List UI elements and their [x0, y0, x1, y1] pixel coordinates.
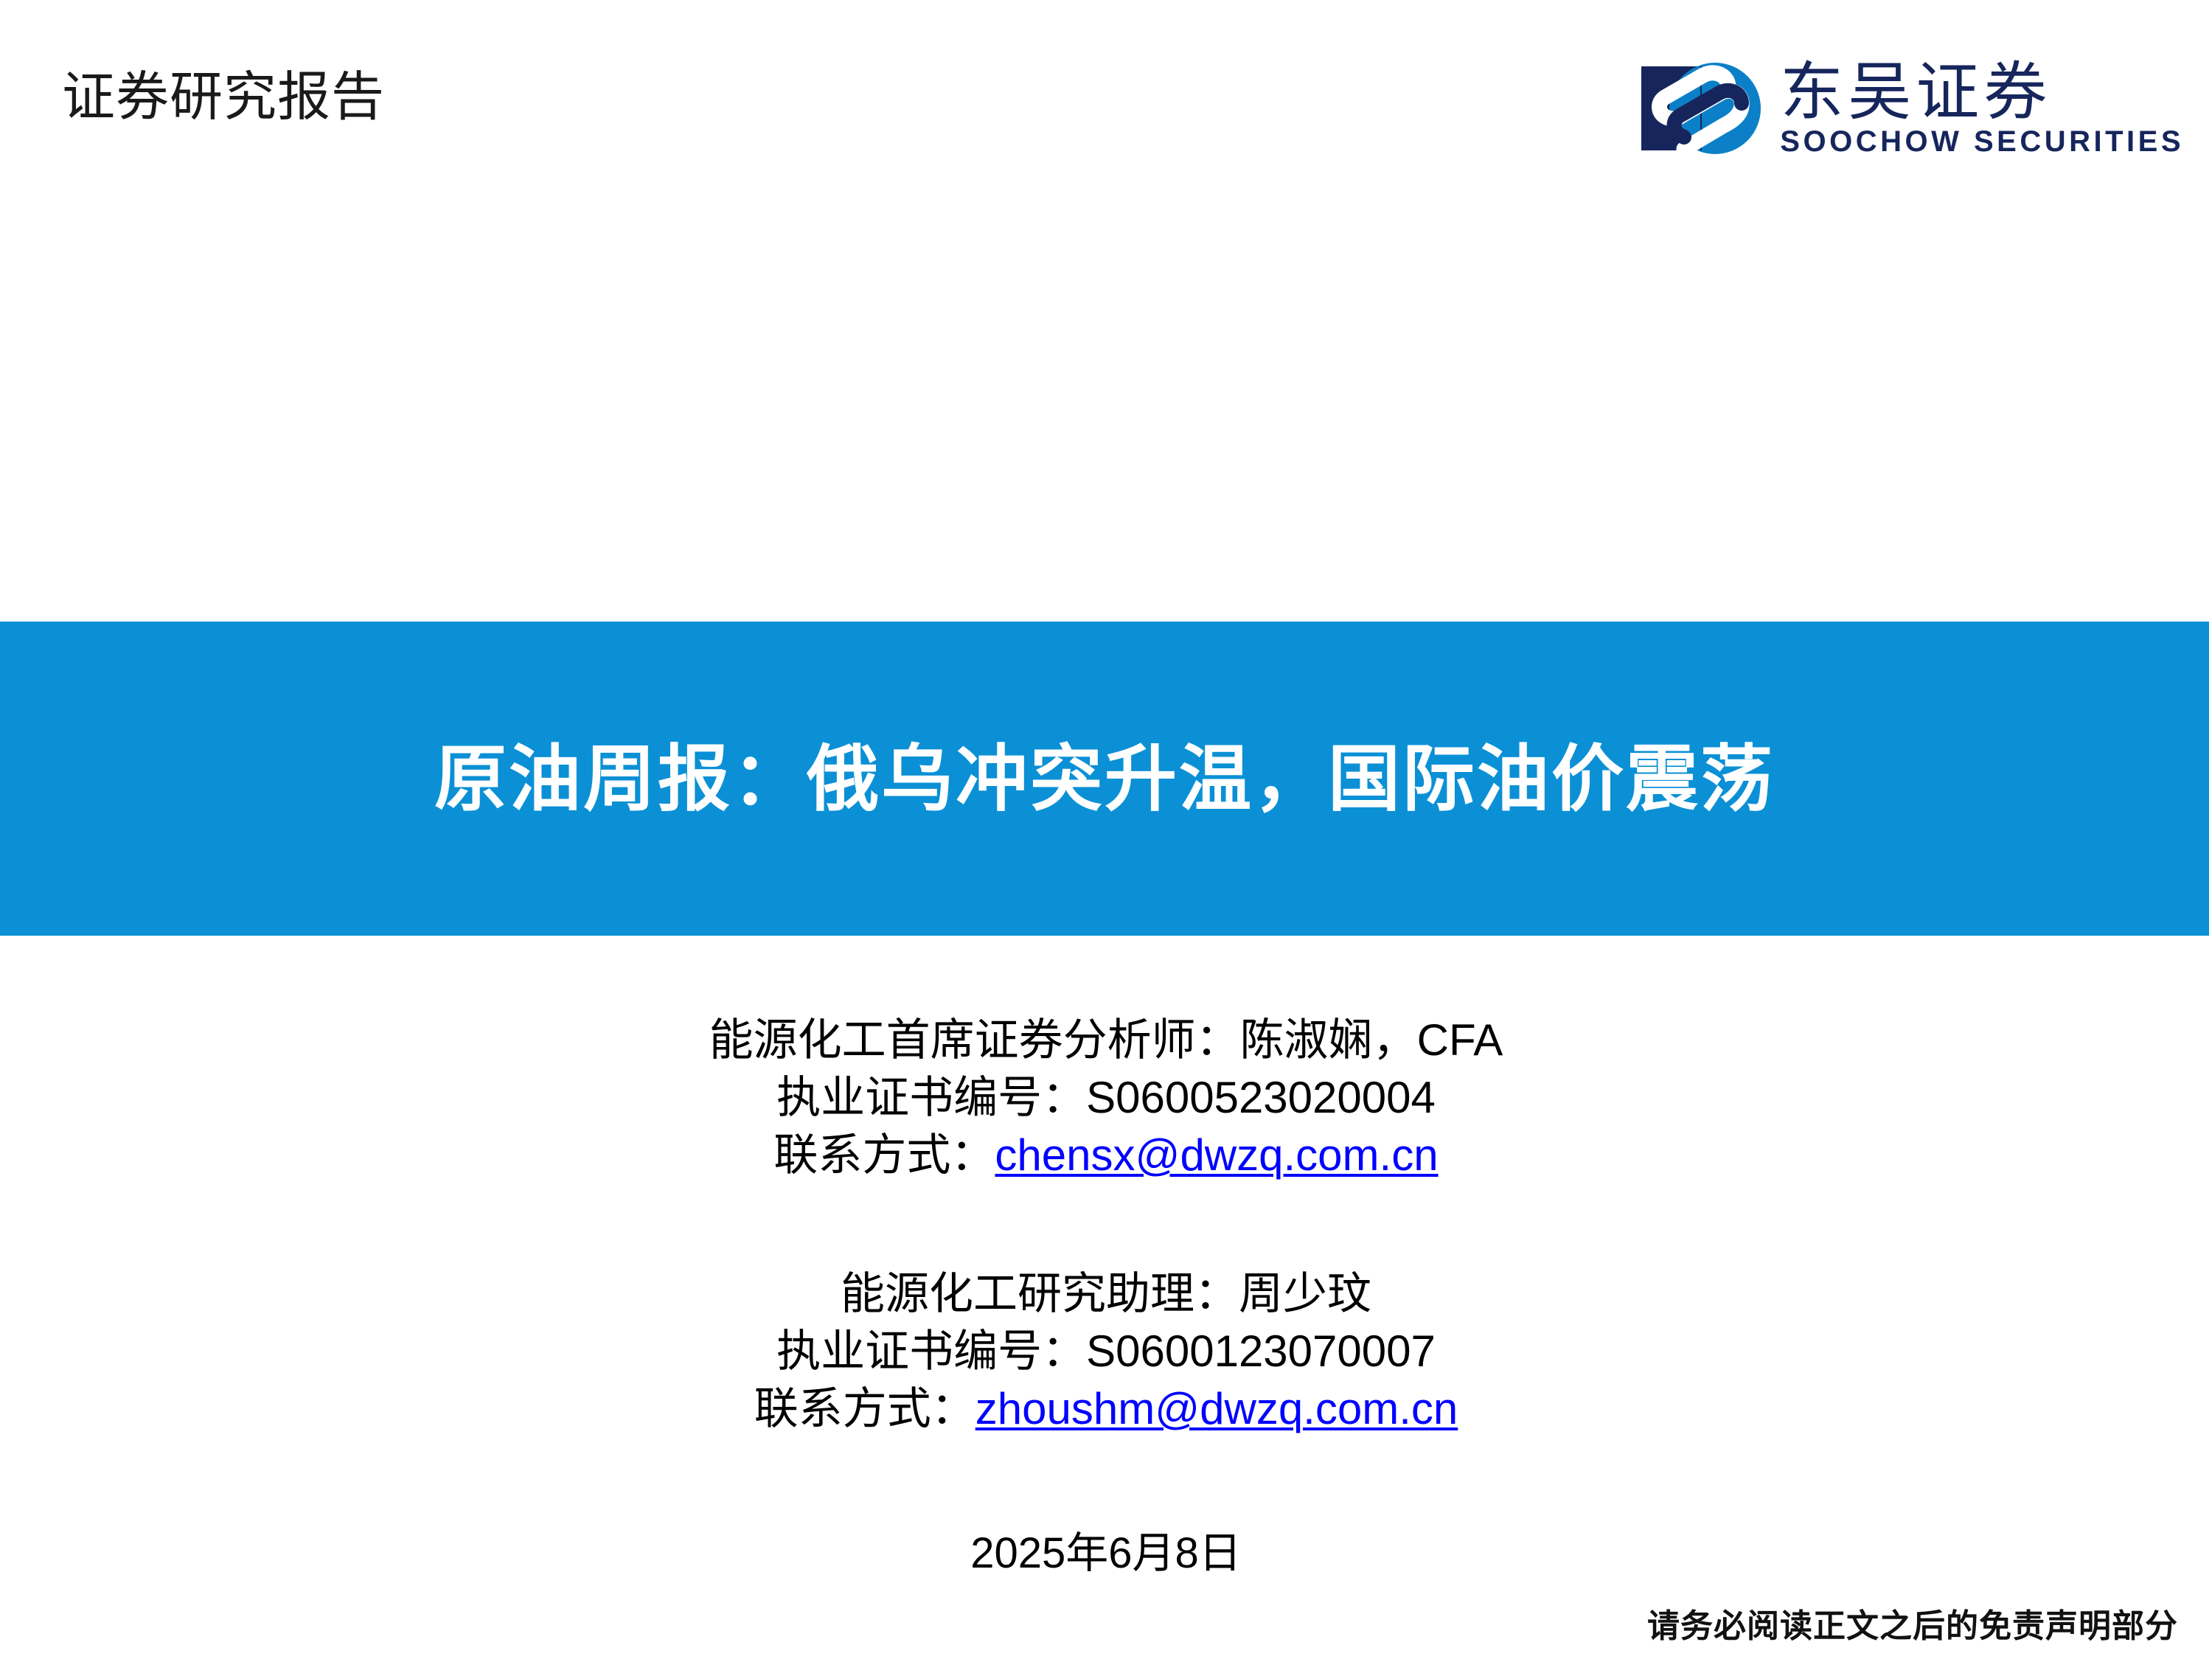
analyst-contact-line: 联系方式：chensx@dwzq.com.cn [0, 1127, 2212, 1184]
contact-label: 联系方式： [754, 1384, 975, 1433]
assistant-role-line: 能源化工研究助理：周少玟 [0, 1265, 2212, 1323]
brand-name-en: SOOCHOW SECURITIES [1780, 127, 2184, 156]
analyst-role-line: 能源化工首席证券分析师：陈淑娴，CFA [0, 1012, 2212, 1069]
analyst-block-assistant: 能源化工研究助理：周少玟 执业证书编号：S0600123070007 联系方式：… [0, 1265, 2212, 1438]
page-title: 证券研究报告 [62, 71, 385, 124]
assistant-contact-line: 联系方式：zhoushm@dwzq.com.cn [0, 1380, 2212, 1438]
report-date: 2025年6月8日 [0, 1532, 2212, 1575]
brand-name-cn: 东吴证券 [1780, 60, 2184, 124]
brand-wordmark: 东吴证券 SOOCHOW SECURITIES [1780, 60, 2184, 156]
brand-logo: 东吴证券 SOOCHOW SECURITIES [1638, 58, 2184, 159]
analyst-license-line: 执业证书编号：S0600523020004 [0, 1069, 2212, 1127]
contact-label: 联系方式： [773, 1130, 995, 1180]
footer-disclaimer: 请务必阅读正文之后的免责声明部分 [1647, 1609, 2178, 1644]
analyst-info-section: 能源化工首席证券分析师：陈淑娴，CFA 执业证书编号：S060052302000… [0, 1012, 2212, 1438]
assistant-email-link[interactable]: zhoushm@dwzq.com.cn [975, 1384, 1458, 1433]
analyst-block-lead: 能源化工首席证券分析师：陈淑娴，CFA 执业证书编号：S060052302000… [0, 1012, 2212, 1184]
soochow-s-mark-icon [1638, 58, 1762, 159]
analyst-email-link[interactable]: chensx@dwzq.com.cn [995, 1130, 1438, 1180]
assistant-license-line: 执业证书编号：S0600123070007 [0, 1323, 2212, 1380]
title-banner: 原油周报：俄乌冲突升温，国际油价震荡 [0, 622, 2209, 936]
report-title: 原油周报：俄乌冲突升温，国际油价震荡 [434, 742, 1775, 815]
